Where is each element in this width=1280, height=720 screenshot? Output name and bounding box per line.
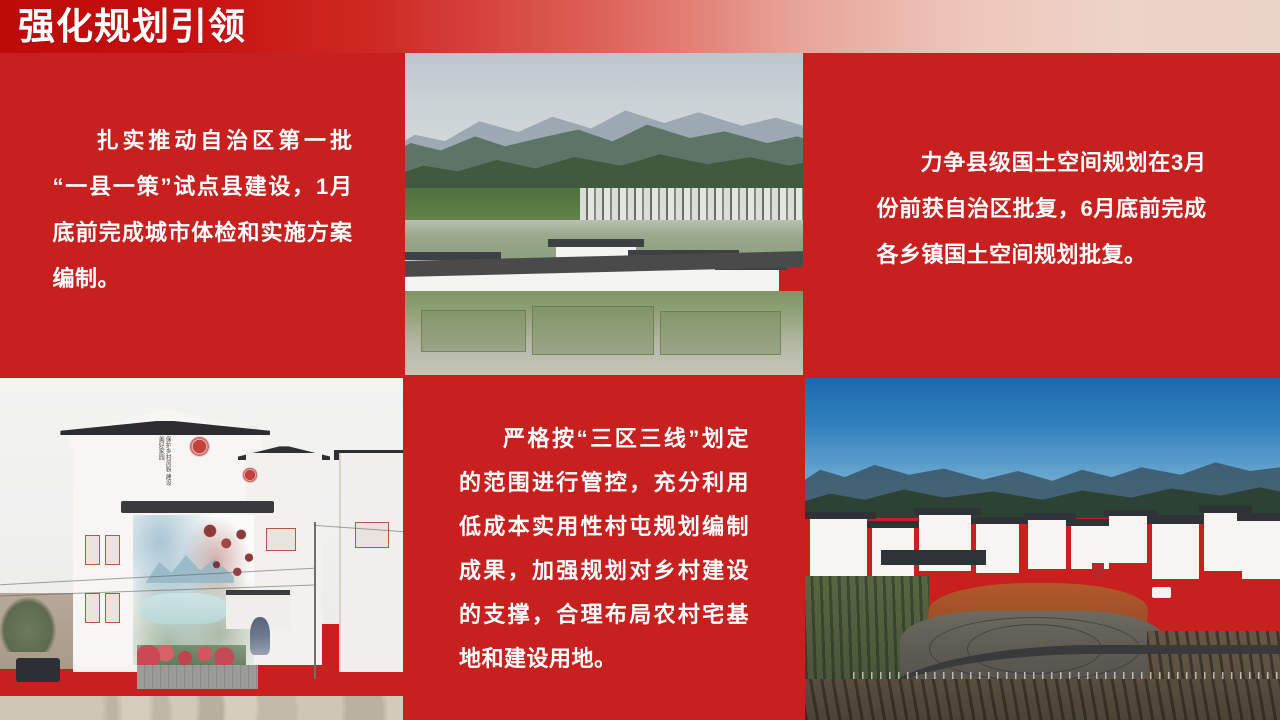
mid-eave: [121, 501, 274, 513]
mural-figure: [250, 617, 270, 655]
photo-panel-bottom-right: [805, 378, 1280, 720]
seal-emblem-small: [242, 467, 258, 483]
foreground-field: [805, 679, 1280, 720]
utility-pole: [314, 522, 316, 679]
text-panel-top-right-body: 力争县级国土空间规划在3月份前获自治区批复，6月底前完成各乡镇国土空间规划批复。: [877, 140, 1207, 278]
white-van: [1152, 587, 1171, 598]
mural-house-photo: 保护乡村风貌 建设美好家园: [0, 378, 403, 720]
bluesky-village-photo: [805, 378, 1280, 720]
calligraphy-text: 保护乡村风貌 建设美好家园: [143, 436, 171, 491]
text-panel-top-left: 扎实推动自治区第一批“一县一策”试点县建设，1月底前完成城市体检和实施方案编制。: [0, 53, 405, 375]
text-panel-bottom-center: 严格按“三区三线”划定的范围进行管控，充分利用低成本实用性村屯规划编制成果，加强…: [403, 378, 805, 720]
right-building: [339, 453, 403, 672]
stone-border: [0, 696, 403, 720]
aerial-village-photo: [405, 53, 803, 375]
header-band: 强化规划引领: [0, 0, 1280, 53]
slide-root: 强化规划引领 扎实推动自治区第一批“一县一策”试点县建设，1月底前完成城市体检和…: [0, 0, 1280, 720]
parked-vehicle: [16, 658, 60, 682]
left-trees: [0, 597, 56, 652]
red-doorway: [1092, 563, 1103, 579]
mural-flowers: [137, 645, 246, 666]
lower-farmland: [405, 291, 803, 375]
text-panel-top-right: 力争县级国土空间规划在3月份前获自治区批复，6月底前完成各乡镇国土空间规划批复。: [803, 53, 1280, 375]
photo-panel-bottom-left: 保护乡村风貌 建设美好家园: [0, 378, 403, 720]
photo-panel-top-center: [405, 53, 803, 375]
background-village: [580, 188, 803, 223]
page-title: 强化规划引领: [18, 4, 246, 48]
text-panel-bottom-center-body: 严格按“三区三线”划定的范围进行管控，充分利用低成本实用性村屯规划编制成果，加强…: [459, 417, 749, 681]
text-panel-top-left-body: 扎实推动自治区第一批“一县一策”试点县建设，1月底前完成城市体检和实施方案编制。: [53, 118, 353, 302]
